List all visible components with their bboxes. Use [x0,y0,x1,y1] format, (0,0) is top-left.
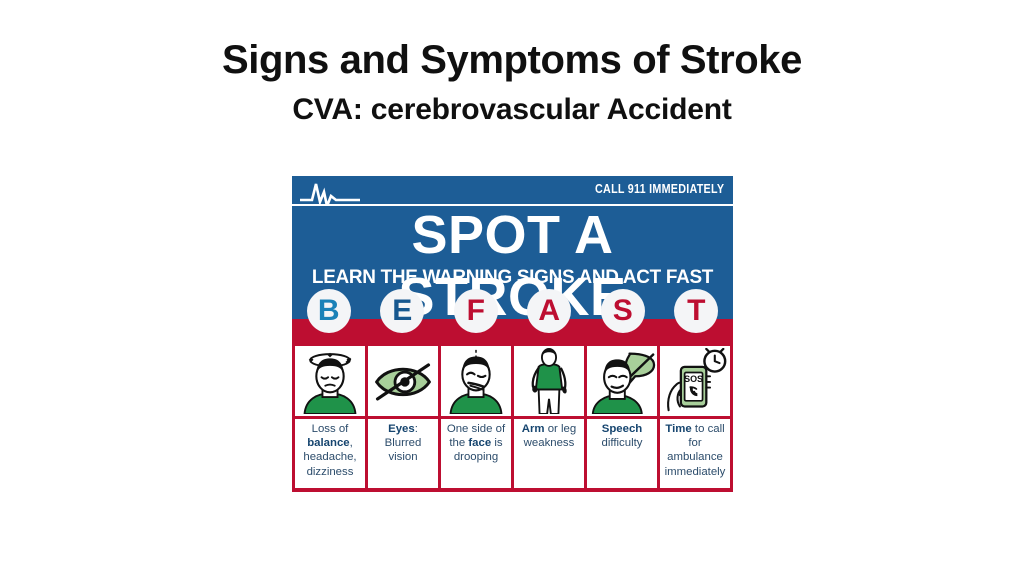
speech-difficulty-icon [587,346,657,416]
symptom-panel-balance: Loss of balance, headache, dizziness [295,346,365,488]
symptom-panel-arm: Arm or leg weakness [514,346,584,488]
symptom-panel-eyes: Eyes: Blurred vision [368,346,438,488]
stroke-infographic: CALL 911 IMMEDIATELY SPOT A STROKE LEARN… [292,176,733,492]
letter-cell-f: F [439,288,513,334]
symptom-panel-time: SOS Time to call for ambulance immediate… [660,346,730,488]
symptom-caption-arm: Arm or leg weakness [514,419,584,488]
letter-cell-t: T [660,288,734,334]
letter-cell-e: E [366,288,440,334]
symptom-caption-eyes: Eyes: Blurred vision [368,419,438,488]
letter-cell-a: A [513,288,587,334]
heartbeat-icon [300,180,360,206]
letter-badge-s: S [601,289,645,333]
call-911-text: CALL 911 IMMEDIATELY [595,182,724,196]
infographic-tagline: LEARN THE WARNING SIGNS AND ACT FAST [299,266,727,289]
symptom-panels: Loss of balance, headache, dizziness Eye… [292,343,733,492]
page-subtitle: CVA: cerebrovascular Accident [0,93,1024,127]
dizzy-head-icon [295,346,365,416]
letter-badge-e: E [380,289,424,333]
symptom-caption-speech: Speech difficulty [587,419,657,488]
slide: Signs and Symptoms of Stroke CVA: cerebr… [0,0,1024,576]
symptom-panel-speech: Speech difficulty [587,346,657,488]
letter-badge-t: T [674,289,718,333]
symptom-caption-face: One side of the face is drooping [441,419,511,488]
befast-letters-row: B E F A S T [292,288,733,334]
letter-badge-b: B [307,289,351,333]
svg-text:SOS: SOS [684,374,703,384]
phone-clock-icon: SOS [660,346,730,416]
letter-badge-a: A [527,289,571,333]
letter-cell-s: S [586,288,660,334]
symptom-caption-time: Time to call for ambulance immediately [660,419,730,488]
arm-weakness-icon [514,346,584,416]
letter-cell-b: B [292,288,366,334]
symptom-caption-balance: Loss of balance, headache, dizziness [295,419,365,488]
page-title: Signs and Symptoms of Stroke [0,38,1024,83]
letter-badge-f: F [454,289,498,333]
drooping-face-icon [441,346,511,416]
symptom-panel-face: One side of the face is drooping [441,346,511,488]
crossed-eye-icon [368,346,438,416]
